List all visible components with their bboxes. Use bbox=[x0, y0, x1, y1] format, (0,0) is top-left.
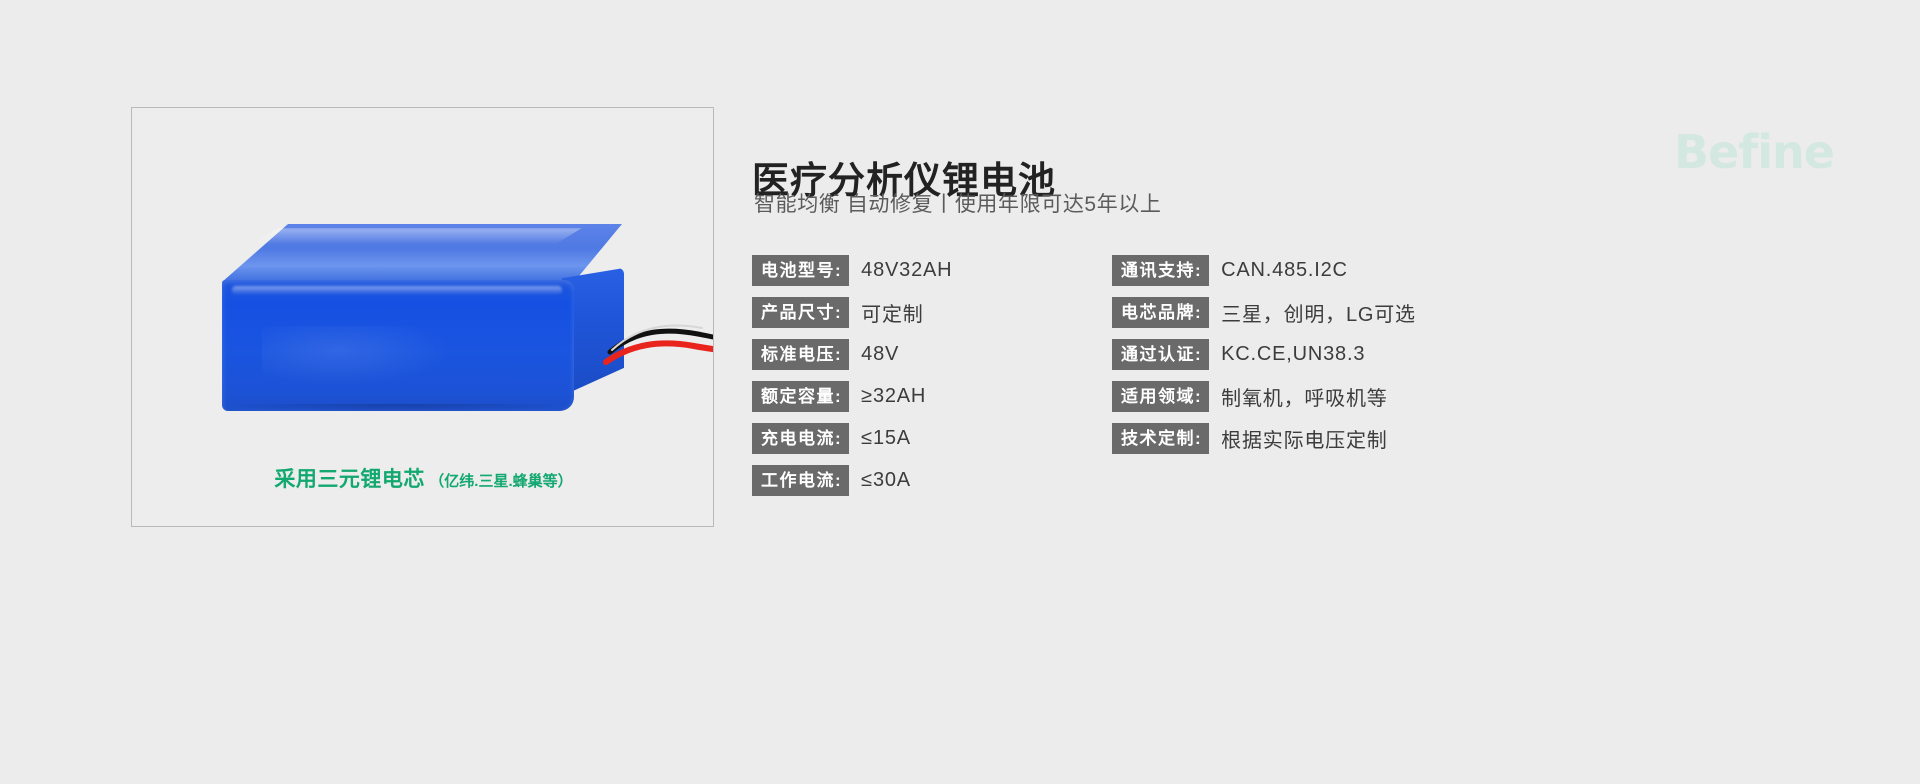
spec-row: 产品尺寸: 可定制 bbox=[752, 297, 1112, 328]
spec-row: 工作电流: ≤30A bbox=[752, 465, 1112, 496]
spec-value: 48V bbox=[861, 343, 899, 366]
battery-wires bbox=[602, 300, 714, 390]
spec-row: 标准电压: 48V bbox=[752, 339, 1112, 370]
spec-label: 通讯支持: bbox=[1112, 255, 1209, 286]
spec-row: 通过认证: KC.CE,UN38.3 bbox=[1112, 339, 1732, 370]
spec-label: 电池型号: bbox=[752, 255, 849, 286]
spec-label: 额定容量: bbox=[752, 381, 849, 412]
product-subtitle: 智能均衡 自动修复丨使用年限可达5年以上 bbox=[754, 188, 1162, 218]
spec-value: 48V32AH bbox=[861, 259, 952, 282]
product-image-panel: 采用三元锂电芯 （亿纬.三星.蜂巢等） bbox=[131, 107, 714, 527]
spec-row: 充电电流: ≤15A bbox=[752, 423, 1112, 454]
spec-value: 制氧机，呼吸机等 bbox=[1221, 382, 1387, 411]
spec-row: 通讯支持: CAN.485.I2C bbox=[1112, 255, 1732, 286]
spec-row: 电池型号: 48V32AH bbox=[752, 255, 1112, 286]
spec-label: 适用领域: bbox=[1112, 381, 1209, 412]
spec-row: 适用领域: 制氧机，呼吸机等 bbox=[1112, 381, 1732, 412]
spec-row: 技术定制: 根据实际电压定制 bbox=[1112, 423, 1732, 454]
spec-label: 工作电流: bbox=[752, 465, 849, 496]
spec-label: 产品尺寸: bbox=[752, 297, 849, 328]
spec-column-left: 电池型号: 48V32AH 产品尺寸: 可定制 标准电压: 48V 额定容量: … bbox=[752, 255, 1112, 496]
spec-row: 额定容量: ≥32AH bbox=[752, 381, 1112, 412]
battery-pack-illustration bbox=[222, 224, 622, 414]
caption-sub-text: （亿纬.三星.蜂巢等） bbox=[429, 473, 572, 490]
spec-value: ≥32AH bbox=[861, 385, 926, 408]
spec-value: ≤30A bbox=[861, 469, 911, 492]
product-image-caption: 采用三元锂电芯 （亿纬.三星.蜂巢等） bbox=[132, 463, 714, 493]
battery-top-gloss bbox=[252, 228, 582, 244]
product-info-panel: Befine 医疗分析仪锂电池 智能均衡 自动修复丨使用年限可达5年以上 电池型… bbox=[752, 107, 1852, 537]
caption-main-text: 采用三元锂电芯 bbox=[274, 468, 425, 491]
battery-front-sheen bbox=[262, 326, 452, 386]
spec-value: CAN.485.I2C bbox=[1221, 259, 1348, 282]
spec-label: 充电电流: bbox=[752, 423, 849, 454]
brand-logo: Befine bbox=[1674, 125, 1834, 179]
spec-value: ≤15A bbox=[861, 427, 911, 450]
battery-photo: 采用三元锂电芯 （亿纬.三星.蜂巢等） bbox=[132, 108, 714, 527]
battery-front-face bbox=[222, 280, 574, 411]
spec-value: 根据实际电压定制 bbox=[1221, 424, 1387, 453]
spec-column-right: 通讯支持: CAN.485.I2C 电芯品牌: 三星，创明，LG可选 通过认证:… bbox=[1112, 255, 1732, 496]
spec-label: 技术定制: bbox=[1112, 423, 1209, 454]
spec-row: 电芯品牌: 三星，创明，LG可选 bbox=[1112, 297, 1732, 328]
spec-label: 通过认证: bbox=[1112, 339, 1209, 370]
spec-label: 标准电压: bbox=[752, 339, 849, 370]
spec-value: 可定制 bbox=[861, 298, 923, 327]
battery-drop-shadow bbox=[222, 404, 574, 412]
spec-value: 三星，创明，LG可选 bbox=[1221, 298, 1416, 327]
product-detail-page: 采用三元锂电芯 （亿纬.三星.蜂巢等） Befine 医疗分析仪锂电池 智能均衡… bbox=[0, 0, 1920, 784]
spec-label: 电芯品牌: bbox=[1112, 297, 1209, 328]
battery-front-highlight bbox=[232, 286, 562, 295]
spec-table: 电池型号: 48V32AH 产品尺寸: 可定制 标准电压: 48V 额定容量: … bbox=[752, 255, 1732, 496]
spec-value: KC.CE,UN38.3 bbox=[1221, 343, 1365, 366]
